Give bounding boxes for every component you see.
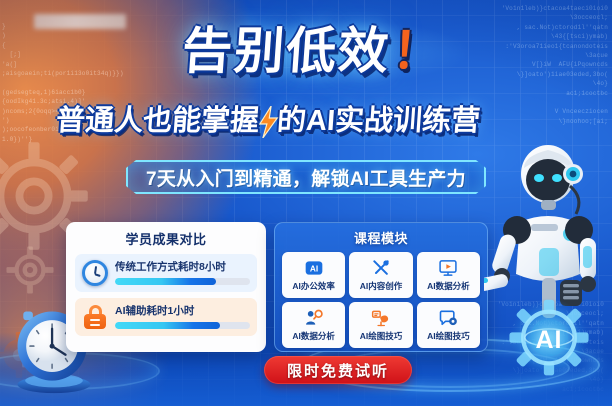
lightning-bolt-icon: [256, 106, 280, 138]
course-tile-label: AI办公效率: [292, 280, 335, 292]
page-title: 告别低效！: [180, 20, 485, 86]
course-tile-ai-content[interactable]: AI内容创作: [349, 252, 412, 298]
progress-bar-fill: [115, 322, 220, 329]
course-tile-label: AI绘图技巧: [360, 330, 403, 342]
tagline-text: 7天从入门到精通，解锁AI工具生产力: [146, 164, 466, 191]
comparison-row-body: 传统工作方式耗时8小时: [115, 261, 250, 285]
results-comparison-card: 学员成果对比 传统工作方式耗时8小时 AI辅助耗时1小时: [66, 222, 266, 352]
comparison-row-ai: AI辅助耗时1小时: [75, 298, 257, 336]
course-tile-ai-data-1[interactable]: AI数据分析: [417, 252, 480, 298]
clock-icon: [82, 260, 108, 286]
comparison-label: 传统工作方式耗时8小时: [115, 261, 250, 274]
hand-chart-icon: [371, 308, 391, 328]
subheadline-before: 普通人也能掌握: [55, 105, 260, 137]
comparison-label: AI辅助耗时1小时: [115, 305, 250, 318]
course-tile-ai-data-2[interactable]: AI数据分析: [282, 302, 345, 348]
pen-brush-icon: [371, 258, 391, 278]
course-tile-ai-office[interactable]: AI AI办公效率: [282, 252, 345, 298]
course-tile-ai-drawing-2[interactable]: AI绘图技巧: [417, 302, 480, 348]
course-modules-card: 课程模块 AI AI办公效率 AI内容创作: [274, 222, 488, 352]
progress-bar-ai: [115, 322, 250, 329]
free-trial-button[interactable]: 限时免费试听: [264, 356, 412, 384]
course-tiles-grid: AI AI办公效率 AI内容创作: [282, 252, 480, 348]
monitor-play-icon: [438, 258, 458, 278]
comparison-row-traditional: 传统工作方式耗时8小时: [75, 254, 257, 292]
person-search-icon: [304, 308, 324, 328]
ai-badge-icon: AI: [304, 258, 324, 278]
headline-exclamation: ！: [390, 23, 446, 79]
ai-gear-label: AI: [506, 326, 592, 355]
subheadline: 普通人也能掌握的AI实战训练营: [54, 100, 527, 144]
tagline-pill: 7天从入门到精通，解锁AI工具生产力: [126, 160, 486, 194]
course-tile-label: AI内容创作: [360, 280, 403, 292]
course-tile-label: AI数据分析: [292, 330, 335, 342]
subheadline-after: 的AI实战训练营: [276, 105, 481, 137]
course-tile-ai-drawing-1[interactable]: AI绘图技巧: [349, 302, 412, 348]
free-trial-button-label: 限时免费试听: [287, 360, 389, 381]
lock-icon: [82, 304, 108, 330]
course-card-title: 课程模块: [282, 228, 480, 247]
promo-banner: } ) { [;] 'a(] ;aisgoaein;ti(por1i13o0it…: [0, 0, 612, 406]
course-tile-label: AI绘图技巧: [427, 330, 470, 342]
progress-bar-fill: [115, 278, 216, 285]
course-tile-label: AI数据分析: [427, 280, 470, 292]
comparison-row-body: AI辅助耗时1小时: [115, 305, 250, 329]
svg-text:AI: AI: [309, 263, 317, 273]
chat-gear-icon: [438, 308, 458, 328]
results-card-title: 学员成果对比: [75, 229, 257, 248]
headline-text: 告别低效: [180, 23, 392, 79]
progress-bar-traditional: [115, 278, 250, 285]
